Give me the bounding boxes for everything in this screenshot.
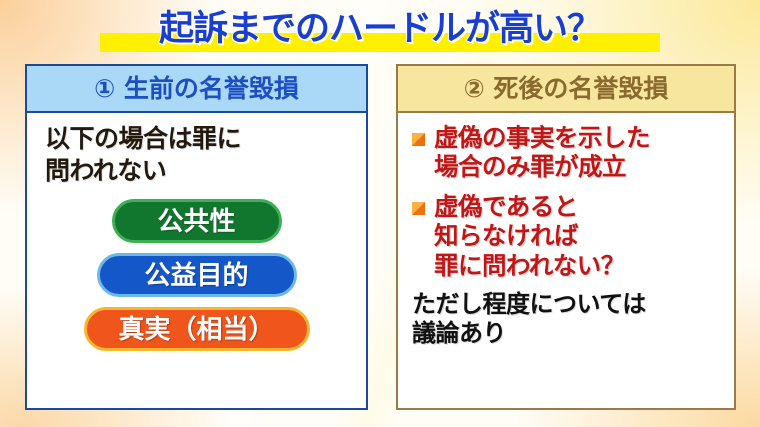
bullet-item-1: 虚偽の事実を示した 場合のみ罪が成立 bbox=[412, 123, 722, 182]
left-lead-line-1: 以下の場合は罪に bbox=[45, 123, 354, 155]
bullet-2-text: 虚偽であると 知らなければ 罪に問われない？ bbox=[434, 192, 722, 280]
right-note-line-2: 議論あり bbox=[412, 319, 722, 348]
bullet-2-line-3: 罪に問われない？ bbox=[434, 251, 722, 280]
panel-lifetime-defamation: ① 生前の名誉毀損 以下の場合は罪に 問われない 公共性 公益目的 真実（相当） bbox=[25, 64, 368, 410]
panel-right-header: ② 死後の名誉毀損 bbox=[398, 66, 734, 113]
title-block: 起訴までのハードルが高い？ bbox=[0, 4, 760, 56]
bullet-1-text: 虚偽の事実を示した 場合のみ罪が成立 bbox=[434, 123, 722, 182]
bullet-2-line-2: 知らなければ bbox=[434, 221, 722, 250]
panel-right-body: 虚偽の事実を示した 場合のみ罪が成立 虚偽であると 知らなければ 罪に問われない… bbox=[398, 113, 734, 408]
left-lead-text: 以下の場合は罪に 問われない bbox=[41, 123, 354, 186]
right-note-text: ただし程度については 議論あり bbox=[412, 290, 722, 348]
condition-pill-list: 公共性 公益目的 真実（相当） bbox=[27, 199, 366, 361]
bullet-2-line-1: 虚偽であると bbox=[434, 192, 722, 221]
bullet-1-line-1: 虚偽の事実を示した bbox=[434, 123, 722, 152]
panel-left-body: 以下の場合は罪に 問われない 公共性 公益目的 真実（相当） bbox=[27, 113, 366, 408]
panel-left-header: ① 生前の名誉毀損 bbox=[27, 66, 366, 113]
pill-truth-equivalent[interactable]: 真実（相当） bbox=[84, 307, 310, 351]
bullet-1-line-2: 場合のみ罪が成立 bbox=[434, 152, 722, 181]
pill-public-interest-nature[interactable]: 公共性 bbox=[112, 199, 282, 243]
pill-public-benefit-purpose[interactable]: 公益目的 bbox=[97, 253, 297, 297]
square-bullet-icon bbox=[412, 133, 425, 146]
panel-posthumous-defamation: ② 死後の名誉毀損 虚偽の事実を示した 場合のみ罪が成立 虚偽であると 知らなけ… bbox=[396, 64, 736, 410]
bullet-item-2: 虚偽であると 知らなければ 罪に問われない？ bbox=[412, 192, 722, 280]
square-bullet-icon bbox=[412, 202, 425, 215]
left-lead-line-2: 問われない bbox=[45, 155, 354, 187]
page-title: 起訴までのハードルが高い？ bbox=[0, 4, 760, 54]
right-note-line-1: ただし程度については bbox=[412, 290, 722, 319]
slide-canvas: 起訴までのハードルが高い？ ① 生前の名誉毀損 以下の場合は罪に 問われない 公… bbox=[0, 0, 760, 427]
